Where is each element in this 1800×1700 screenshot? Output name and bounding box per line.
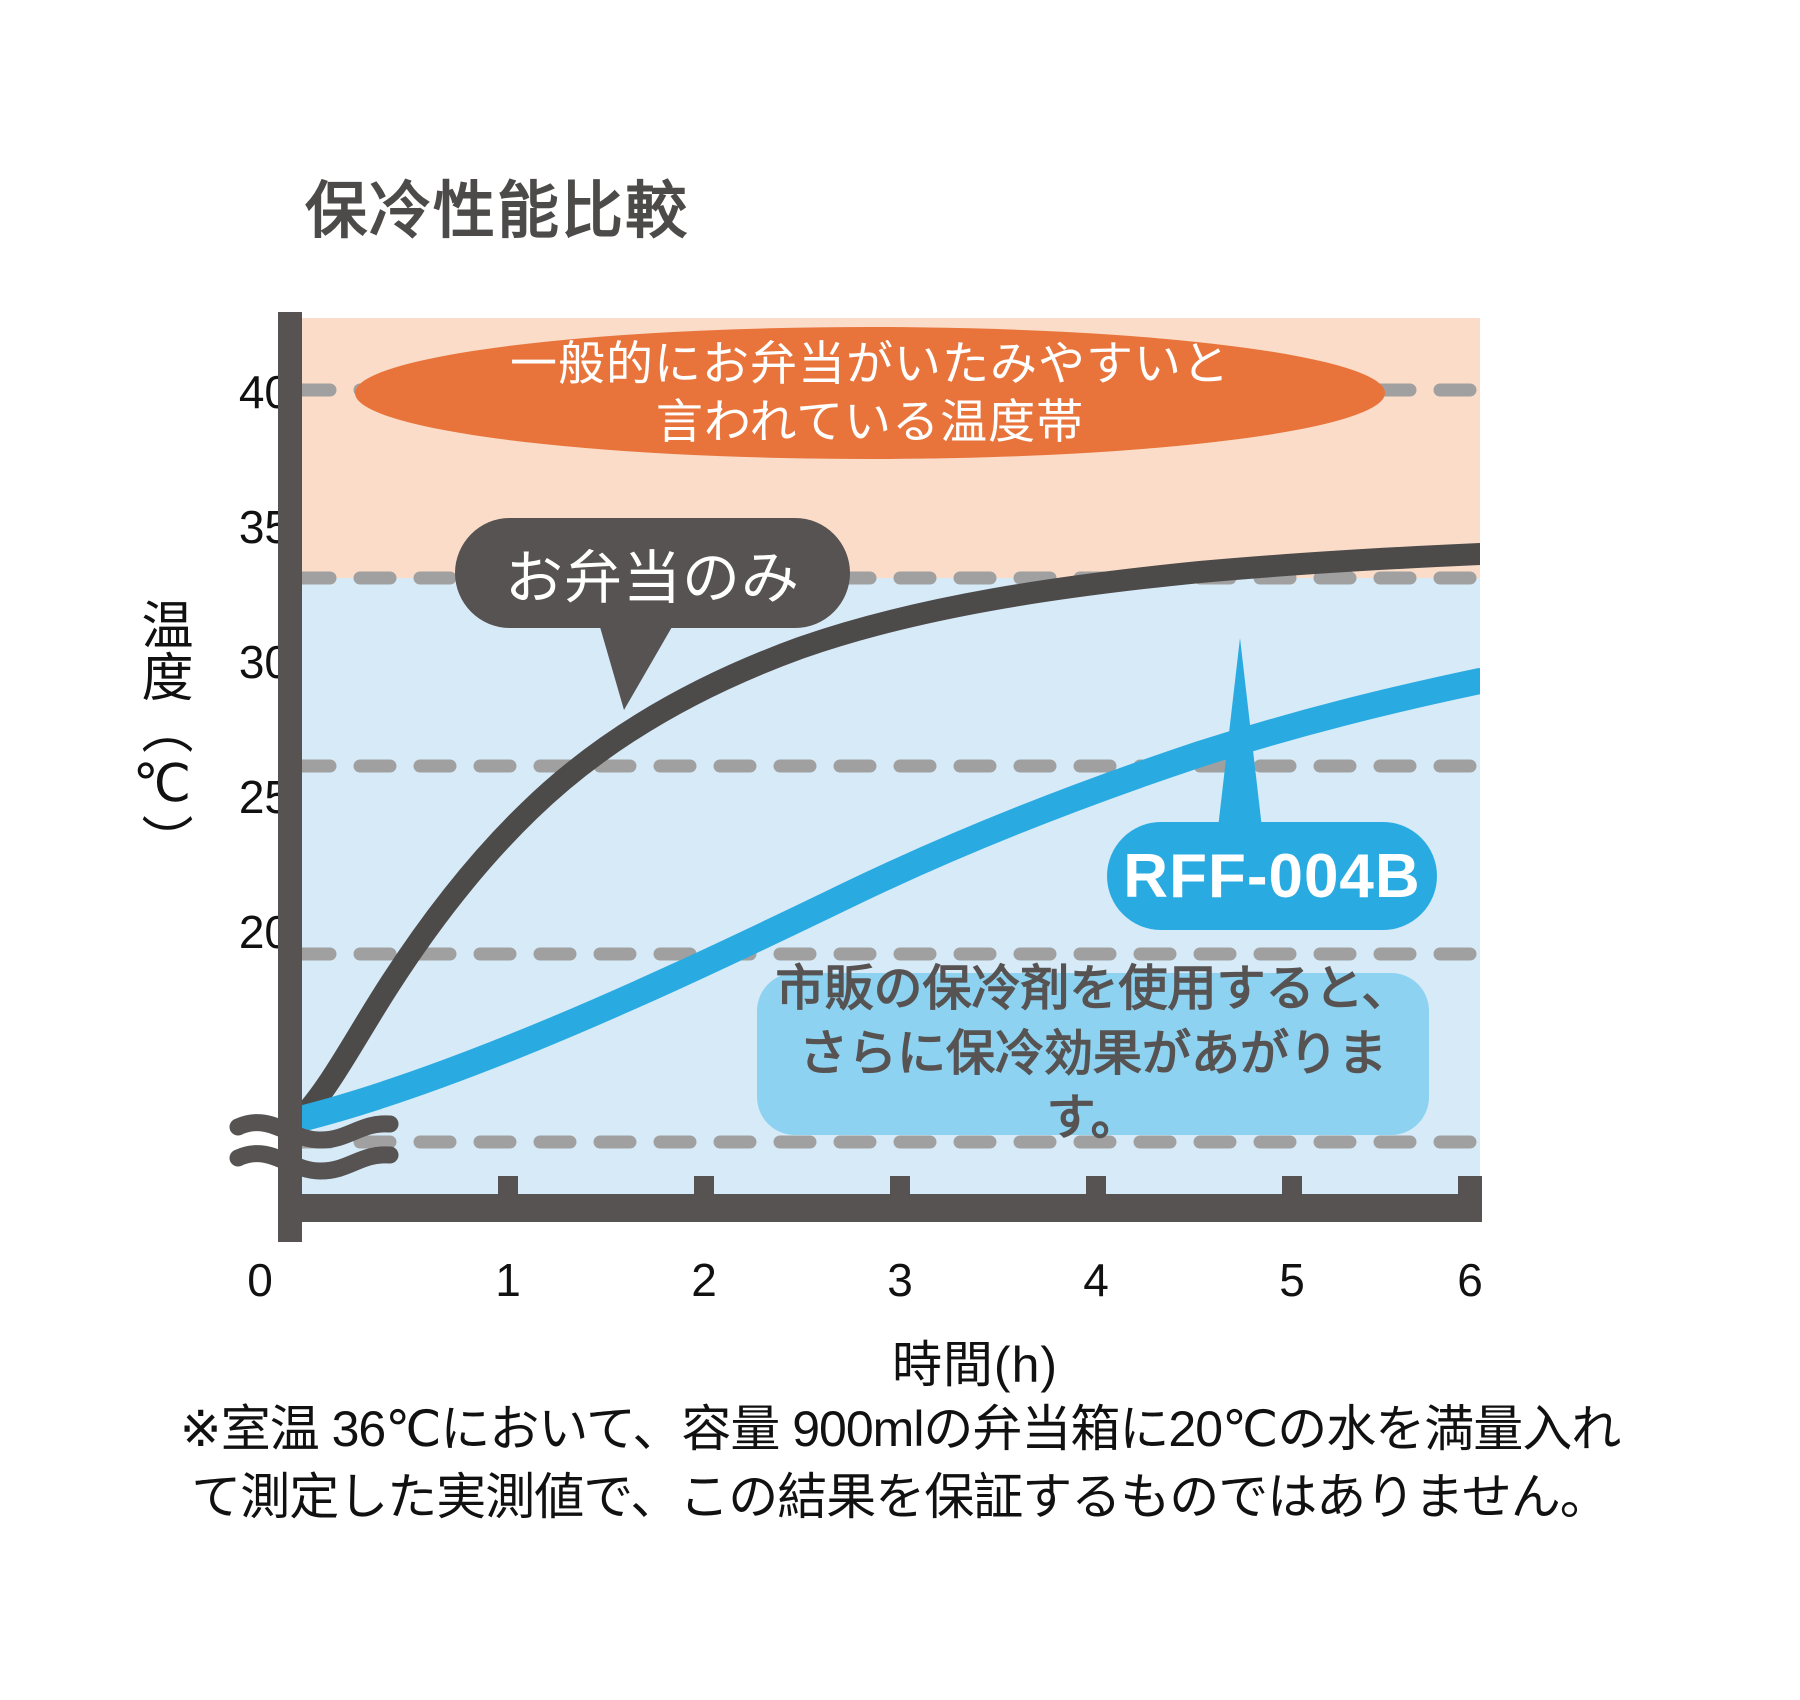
x-tick-label: 4 (1066, 1253, 1126, 1307)
y-axis-title: 温度（℃） (118, 598, 188, 866)
y-tick-label: 25 (180, 770, 290, 824)
y-tick-label: 20 (180, 905, 290, 959)
y-tick-label: 30 (180, 635, 290, 689)
bento-callout-tail (598, 620, 676, 710)
y-tick-label: 40 (180, 365, 290, 419)
x-tick-label: 0 (230, 1253, 290, 1307)
x-tick-label: 5 (1262, 1253, 1322, 1307)
x-axis-title-text: 時間(h) (892, 1325, 1058, 1397)
danger-band-annotation: 一般的にお弁当がいたみやすいと 言われている温度帯 (355, 327, 1385, 459)
x-axis-title: 時間(h) (0, 1325, 1800, 1397)
series-label-product: RFF-004B (1107, 822, 1437, 930)
x-tick-label: 2 (674, 1253, 734, 1307)
page-title: 保冷性能比較 (305, 160, 689, 250)
x-tick-label: 3 (870, 1253, 930, 1307)
coolant-note-bubble: 市販の保冷剤を使用すると、 さらに保冷効果があがります。 (757, 973, 1429, 1135)
chart-root: 保冷性能比較 温度（℃） 40 35 30 25 20 (0, 0, 1800, 1700)
x-tick-label: 1 (478, 1253, 538, 1307)
footnote-text: ※室温 36℃において、容量 900mlの弁当箱に20℃の水を満量入れ て測定し… (0, 1395, 1800, 1531)
x-tick-label: 6 (1440, 1253, 1500, 1307)
series-label-bento: お弁当のみ (455, 518, 850, 628)
y-tick-label: 35 (180, 500, 290, 554)
product-callout-tail (1218, 638, 1262, 828)
